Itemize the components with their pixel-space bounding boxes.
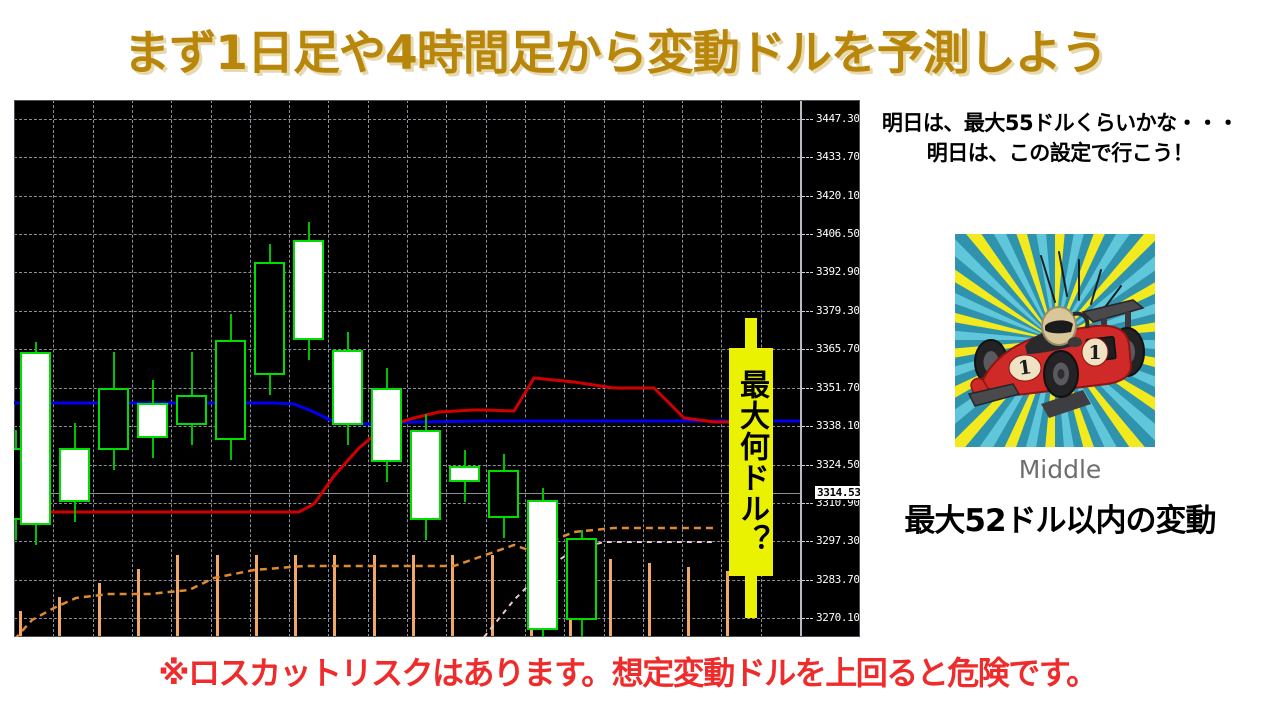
grid-line-horizontal [14,311,800,312]
histogram-bar [412,555,415,637]
grid-line-vertical [132,100,133,637]
candlestick[interactable] [371,368,402,482]
svg-text:1: 1 [1088,342,1101,364]
axis-tick [802,119,813,120]
candlestick[interactable] [59,423,90,522]
price-axis-label: 3297.30 [816,534,860,547]
indicator-overlay [14,100,800,637]
grid-line-vertical [328,100,329,637]
axis-tick [802,580,813,581]
candlestick[interactable] [527,488,558,637]
price-axis-label: 3379.30 [816,304,860,317]
grid-line-horizontal [14,119,800,120]
grid-line-horizontal [14,349,800,350]
axis-tick [802,426,813,427]
candle-body [488,470,519,518]
candle-body [293,240,324,340]
grid-line-vertical [14,100,15,637]
candle-body [215,340,246,440]
grid-line-vertical [486,100,487,637]
candlestick[interactable] [98,352,129,470]
candle-body [20,352,51,525]
histogram-bar [216,555,219,637]
histogram-bar [726,571,729,637]
candlestick[interactable] [20,342,51,545]
grid-line-vertical [53,100,54,637]
histogram-bar [58,597,61,637]
grid-line-vertical [289,100,290,637]
candlestick[interactable] [176,352,207,445]
candlestick[interactable] [449,450,480,502]
price-axis-label: 3392.90 [816,265,860,278]
page-title: まず1日足や4時間足から変動ドルを予測しよう [0,14,1230,83]
price-axis-label: 3420.10 [816,189,860,202]
candle-body [137,403,168,438]
grid-line-horizontal [14,272,800,273]
candle-body [98,388,129,450]
price-axis-label: 3283.70 [816,573,860,586]
histogram-bar [294,555,297,637]
candle-body [410,430,441,520]
candlestick[interactable] [410,414,441,540]
axis-tick [802,311,813,312]
grid-line-horizontal [14,465,800,466]
candle-body [254,262,285,375]
chart-plot-area[interactable] [14,100,800,637]
max-dollars-callout[interactable]: 最大何ドル？ [729,348,773,576]
grid-line-horizontal [14,426,800,427]
grid-line-vertical [682,100,683,637]
grid-line-vertical [525,100,526,637]
axis-tick [802,618,813,619]
axis-tick [802,388,813,389]
candlestick[interactable] [215,314,246,460]
axis-tick [802,157,813,158]
price-axis-label: 3338.10 [816,419,860,432]
axis-tick [802,503,813,504]
candle-body [566,538,597,620]
histogram-bar [609,559,612,637]
grid-line-vertical [211,100,212,637]
slide-root: まず1日足や4時間足から変動ドルを予測しよう 3447.303433.70342… [0,0,1280,720]
histogram-bar [176,555,179,637]
candle-body [449,466,480,482]
histogram-bar [137,569,140,637]
price-axis-label: 3324.50 [816,458,860,471]
grid-line-vertical [721,100,722,637]
grid-line-horizontal [14,618,800,619]
histogram-bar [451,555,454,637]
histogram-bar [333,555,336,637]
axis-tick [802,272,813,273]
racecar-illustration: 1 1 [955,234,1155,447]
grid-line-vertical [368,100,369,637]
histogram-bar [373,555,376,637]
grid-line-horizontal [14,196,800,197]
candlestick[interactable] [137,380,168,458]
histogram-bar [98,583,101,637]
grid-line-vertical [446,100,447,637]
price-axis[interactable]: 3447.303433.703420.103406.503392.903379.… [800,100,860,637]
candlestick[interactable] [488,454,519,538]
histogram-bar [491,555,494,637]
histogram-bar [648,563,651,637]
dashed-trendline-pink [484,542,714,637]
candle-body [371,388,402,462]
image-caption: Middle [860,455,1260,484]
histogram-bar [255,555,258,637]
forecast-note-line1: 明日は、最大55ドルくらいかな・・・ [882,111,1238,135]
grid-line-horizontal [14,580,800,581]
grid-line-vertical [171,100,172,637]
forecast-note-line2: 明日は、この設定で行こう！ [840,138,1280,168]
current-price-line [14,493,800,494]
risk-disclaimer: ※ロスカットリスクはあります。想定変動ドルを上回ると危険です。 [0,648,1255,694]
grid-line-vertical [407,100,408,637]
grid-line-vertical [93,100,94,637]
candlestick[interactable] [293,222,324,360]
grid-line-horizontal [14,503,800,504]
axis-tick [802,465,813,466]
candle-body [59,448,90,502]
grid-line-vertical [604,100,605,637]
candlestick[interactable] [566,530,597,637]
grid-line-horizontal [14,234,800,235]
axis-tick [802,234,813,235]
callout-stem-bottom [745,572,757,618]
price-axis-label: 3270.10 [816,611,860,624]
grid-line-horizontal [14,388,800,389]
candlestick[interactable] [254,244,285,395]
grid-line-horizontal [14,541,800,542]
candlestick[interactable] [332,332,363,445]
candle-body [176,395,207,425]
axis-tick [802,541,813,542]
grid-line-vertical [643,100,644,637]
moving-average-blue [14,403,800,424]
candle-body [527,500,558,630]
price-axis-label: 3406.50 [816,227,860,240]
variation-summary: 最大52ドル以内の変動 [860,495,1260,540]
axis-tick [802,196,813,197]
grid-line-vertical [250,100,251,637]
price-axis-label: 3365.70 [816,342,860,355]
forecast-note: 明日は、最大55ドルくらいかな・・・ 明日は、この設定で行こう！ [840,108,1280,169]
candle-body [332,350,363,425]
current-price-label: 3314.53 [814,485,860,500]
histogram-bar [687,567,690,637]
axis-tick [802,349,813,350]
histogram-bar [19,611,22,637]
grid-line-horizontal [14,157,800,158]
price-axis-label: 3351.70 [816,381,860,394]
